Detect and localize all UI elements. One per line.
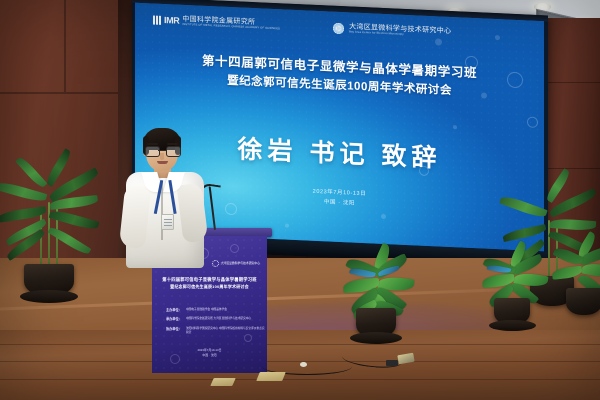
imr-bars-icon: [153, 15, 161, 24]
cable-connector: [386, 360, 398, 366]
plant-saucer: [20, 290, 78, 303]
organizer-label: 主办单位：: [166, 308, 182, 312]
decorative-bokeh: [419, 166, 429, 176]
floor-palm-plant-left: [0, 178, 114, 308]
event-title-line2: 暨纪念郭可信先生诞辰100周年学术研讨会: [135, 67, 544, 104]
podium-event-meta: 2023年7月10-13日 中国 · 沈阳: [152, 348, 267, 358]
decorative-bokeh: [507, 72, 523, 89]
decorative-bokeh: [285, 224, 289, 228]
bay-area-logo-name: 大湾区显微科学与技术研究中心 Bay Area Center for Elect…: [349, 23, 451, 39]
organizer-label: 承办单位：: [166, 317, 182, 321]
imr-logo: IMR 中国科学院金属研究所 INSTITUTE OF METAL RESEAR…: [153, 14, 280, 31]
organizer-value: 沈阳材料科学国家研究中心 中国科学院核用材料与安全评价重点实验室: [186, 327, 267, 335]
bay-area-center-logo: 大湾区显微科学与技术研究中心 Bay Area Center for Elect…: [332, 22, 451, 40]
imr-logo-mark: IMR: [164, 16, 179, 26]
screen-logo-row: IMR 中国科学院金属研究所 INSTITUTE OF METAL RESEAR…: [153, 14, 451, 41]
decorative-bokeh: [453, 125, 457, 129]
podium-event-title: 第十四届郭可信电子显微学与晶体学暑期学习班 暨纪念郭可信先生诞辰100周年学术研…: [152, 277, 267, 290]
decorative-bokeh: [527, 116, 538, 127]
podium-title-line1: 第十四届郭可信电子显微学与晶体学暑期学习班: [152, 277, 267, 284]
speaker-brow-right: [167, 143, 178, 145]
decorative-bokeh: [435, 38, 442, 45]
podium-organizer-info: 主办单位： 中国电子显微镜学会 中国晶体学会 承办单位： 中国科学院金属研究所 …: [166, 308, 267, 340]
conference-hall-photo: IMR 中国科学院金属研究所 INSTITUTE OF METAL RESEAR…: [0, 0, 600, 400]
sun-burst-icon: [212, 260, 219, 267]
eyeglass-bridge: [158, 150, 166, 151]
eyeglass-lens-right: [166, 146, 181, 157]
event-title-line1: 第十四届郭可信电子显微学与晶体学暑期学习班: [135, 49, 544, 86]
cable-tape: [300, 362, 307, 367]
decorative-bokeh: [230, 244, 239, 253]
decorative-bokeh: [495, 35, 500, 40]
decorative-bokeh: [225, 203, 237, 216]
organizer-row: 承办单位： 中国科学院金属研究所 大湾区显微科学与技术研究中心: [166, 317, 267, 321]
decorative-bokeh: [465, 56, 478, 70]
organizer-label: 协办单位：: [166, 327, 182, 331]
stage-plant-1: [330, 250, 440, 360]
decorative-bokeh: [170, 354, 180, 364]
podium-event-location: 中国 · 沈阳: [152, 353, 267, 358]
speaker-shirt-placket: [161, 180, 163, 240]
podium-event-date: 2023年7月10-13日: [152, 348, 267, 353]
cable-tape: [256, 372, 286, 381]
sun-burst-icon: [332, 22, 345, 36]
decorative-bokeh: [381, 214, 386, 219]
speaker-brow-left: [147, 143, 158, 145]
stage-plant-3: [552, 240, 600, 340]
speaker-nose: [160, 153, 164, 160]
eyeglass-lens-left: [145, 146, 160, 157]
organizer-row: 协办单位： 沈阳材料科学国家研究中心 中国科学院核用材料与安全评价重点实验室: [166, 327, 267, 335]
plant-saucer: [350, 332, 402, 344]
organizer-value: 中国科学院金属研究所 大湾区显微科学与技术研究中心: [186, 317, 251, 321]
speaker-person: [118, 128, 210, 268]
imr-logo-name: 中国科学院金属研究所 INSTITUTE OF METAL RESEARCH, …: [182, 16, 280, 31]
plant-saucer: [489, 320, 536, 331]
decorative-bokeh: [244, 334, 252, 342]
organizer-value: 中国电子显微镜学会 中国晶体学会: [186, 308, 227, 312]
speaker-mouth: [157, 161, 168, 164]
screen-event-title: 第十四届郭可信电子显微学与晶体学暑期学习班 暨纪念郭可信先生诞辰100周年学术研…: [135, 49, 544, 105]
plant-pot: [566, 288, 600, 315]
name-badge: [161, 214, 174, 230]
decorative-bokeh: [481, 92, 487, 98]
organizer-row: 主办单位： 中国电子显微镜学会 中国晶体学会: [166, 308, 267, 312]
cable-tape: [210, 378, 236, 386]
podium-bay-area-logo: 大湾区显微科学与技术研究中心: [212, 260, 260, 267]
podium-title-line2: 暨纪念郭可信先生诞辰100周年学术研讨会: [152, 284, 267, 290]
bay-area-logo-name: 大湾区显微科学与技术研究中心: [221, 262, 260, 265]
